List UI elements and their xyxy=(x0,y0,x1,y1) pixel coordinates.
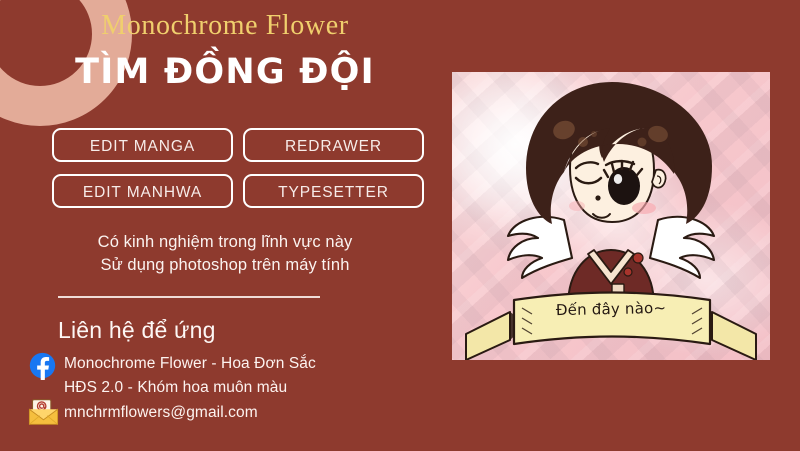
role-button-typesetter[interactable]: TYPESETTER xyxy=(243,174,424,208)
page-title: TÌM ĐỒNG ĐỘI xyxy=(0,52,450,92)
role-button-row-1: EDIT MANGA REDRAWER xyxy=(52,128,424,162)
illustration-panel: Đến đây nào~ xyxy=(452,72,770,360)
facebook-group-name: HĐS 2.0 - Khóm hoa muôn màu xyxy=(64,376,464,400)
poster-canvas: Monochrome Flower TÌM ĐỒNG ĐỘI EDIT MANG… xyxy=(0,0,800,451)
role-button-edit-manga[interactable]: EDIT MANGA xyxy=(52,128,233,162)
brand-title: Monochrome Flower xyxy=(0,10,450,42)
requirement-line-2: Sử dụng photoshop trên máy tính xyxy=(0,254,450,277)
banner-ribbon xyxy=(466,293,756,361)
chibi-angel-illustration xyxy=(452,72,770,360)
role-button-redrawer[interactable]: REDRAWER xyxy=(243,128,424,162)
left-content-column: Monochrome Flower TÌM ĐỒNG ĐỘI EDIT MANG… xyxy=(0,0,450,451)
section-divider xyxy=(58,296,320,298)
requirements-block: Có kinh nghiệm trong lĩnh vực này Sử dụn… xyxy=(0,231,450,277)
role-button-grid: EDIT MANGA REDRAWER EDIT MANHWA TYPESETT… xyxy=(52,128,424,220)
role-button-edit-manhwa[interactable]: EDIT MANHWA xyxy=(52,174,233,208)
email-envelope-icon xyxy=(28,398,57,427)
facebook-icon xyxy=(28,351,57,380)
contact-email-row[interactable] xyxy=(28,398,57,427)
character-head xyxy=(526,82,712,224)
facebook-name-lines: Monochrome Flower - Hoa Đơn Sắc HĐS 2.0 … xyxy=(64,352,464,400)
facebook-page-name: Monochrome Flower - Hoa Đơn Sắc xyxy=(64,352,464,376)
contact-heading: Liên hệ để ứng xyxy=(58,317,216,344)
email-address[interactable]: mnchrmflowers@gmail.com xyxy=(64,402,258,424)
contact-facebook-row[interactable] xyxy=(28,351,57,380)
requirement-line-1: Có kinh nghiệm trong lĩnh vực này xyxy=(0,231,450,254)
role-button-row-2: EDIT MANHWA TYPESETTER xyxy=(52,174,424,208)
